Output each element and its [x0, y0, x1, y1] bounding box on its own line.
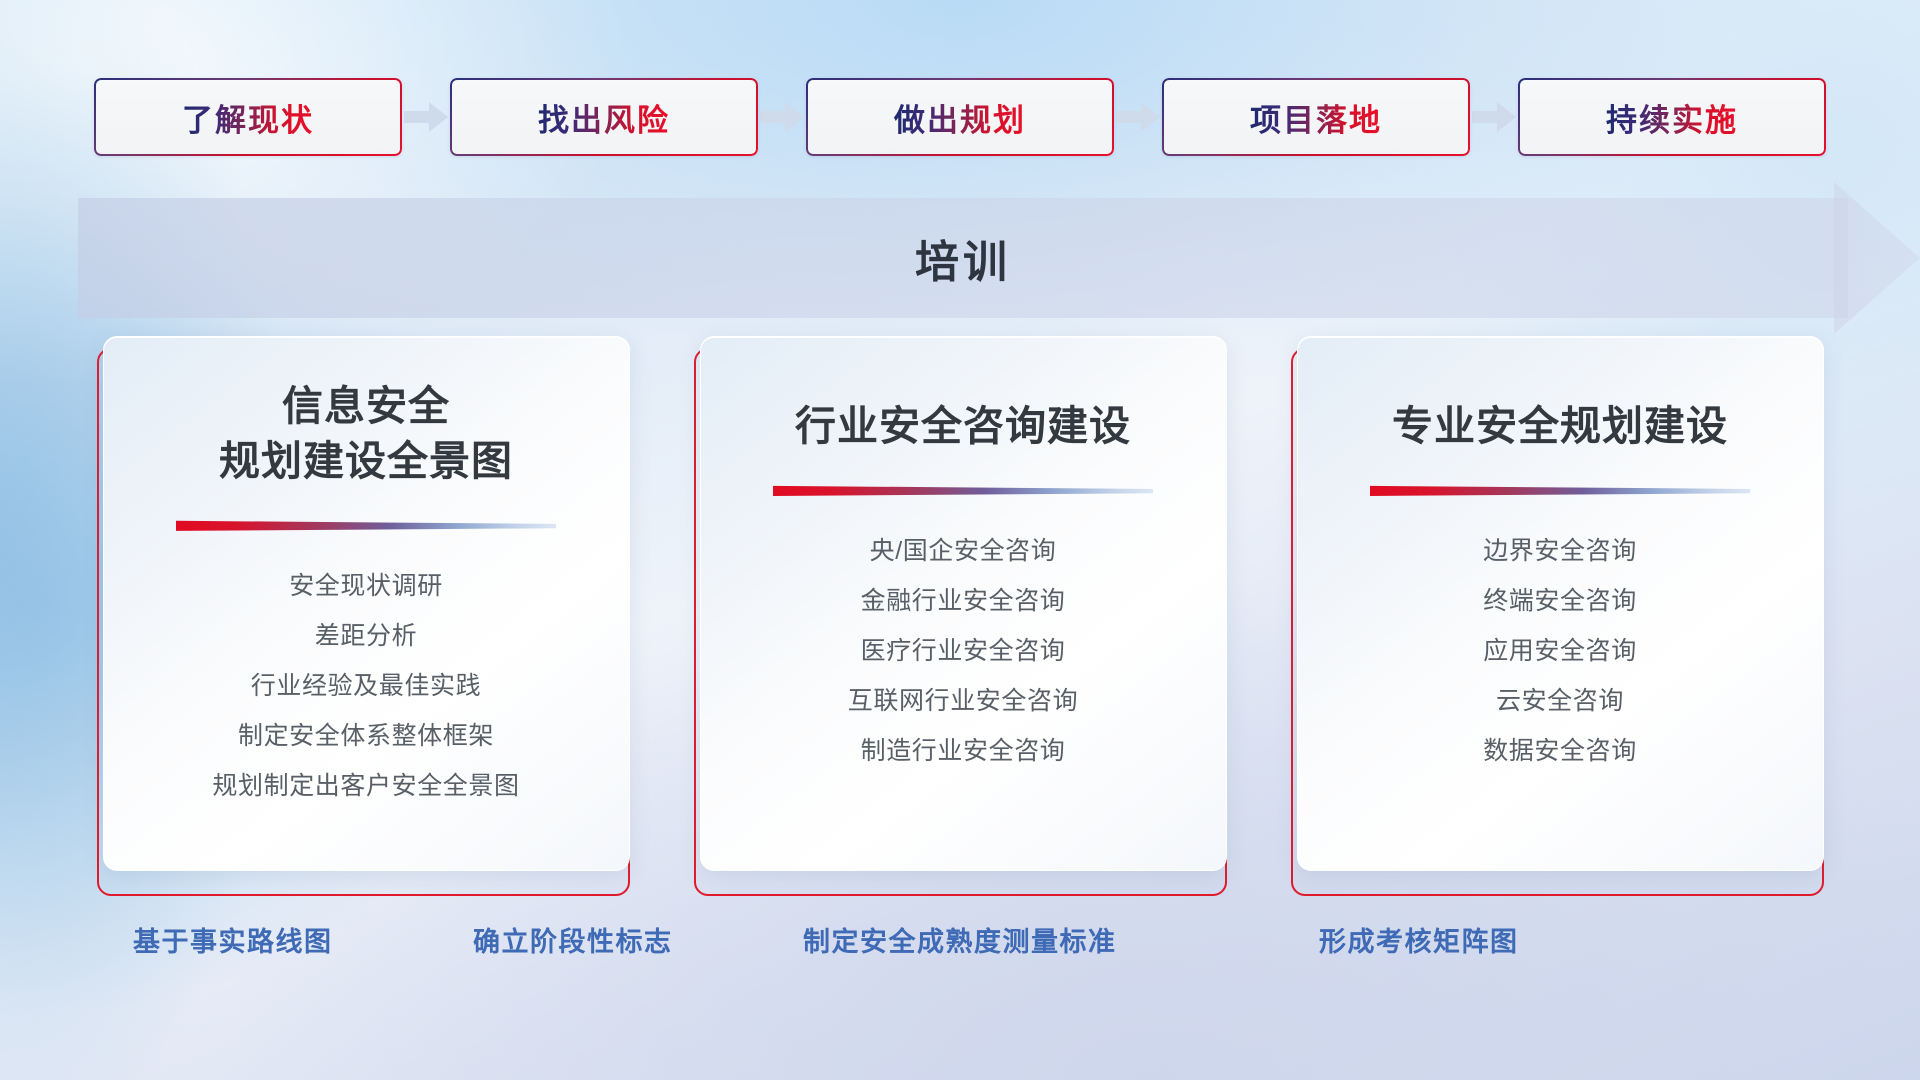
- step-item-5[interactable]: 持续实施: [1518, 78, 1826, 156]
- list-item: 终端安全咨询: [1483, 576, 1637, 626]
- list-item: 差距分析: [315, 611, 417, 661]
- bottom-label-2: 确立阶段性标志: [473, 920, 673, 959]
- card-2[interactable]: 行业安全咨询建设 央/国企安全咨询 金融行业安全咨询 医疗行业安全咨询 互联网行…: [694, 336, 1227, 896]
- card-title: 信息安全 规划建设全景图: [219, 379, 513, 489]
- banner-label: 培训: [78, 198, 1848, 318]
- card-title: 专业安全规划建设: [1392, 399, 1728, 454]
- step-label: 了解现状: [182, 95, 314, 140]
- card-surface: 行业安全咨询建设 央/国企安全咨询 金融行业安全咨询 医疗行业安全咨询 互联网行…: [700, 336, 1227, 871]
- step-label: 持续实施: [1606, 95, 1738, 140]
- card-surface: 专业安全规划建设 边界安全咨询 终端安全咨询 应用安全咨询 云安全咨询 数据安全…: [1297, 336, 1824, 871]
- step-flow: 了解现状 找出风险 做出规划 项目落地: [0, 78, 1920, 156]
- list-item: 云安全咨询: [1496, 676, 1624, 726]
- card-title: 行业安全咨询建设: [795, 399, 1131, 454]
- list-item: 行业经验及最佳实践: [251, 661, 481, 711]
- step-item-3[interactable]: 做出规划: [806, 78, 1114, 156]
- card-item-list: 央/国企安全咨询 金融行业安全咨询 医疗行业安全咨询 互联网行业安全咨询 制造行…: [848, 526, 1078, 776]
- list-item: 数据安全咨询: [1483, 726, 1637, 776]
- step-label: 找出风险: [538, 95, 670, 140]
- list-item: 医疗行业安全咨询: [861, 626, 1066, 676]
- list-item: 金融行业安全咨询: [861, 576, 1066, 626]
- step-arrow-icon-1: [402, 78, 450, 156]
- step-item-2[interactable]: 找出风险: [450, 78, 758, 156]
- card-item-list: 边界安全咨询 终端安全咨询 应用安全咨询 云安全咨询 数据安全咨询: [1483, 526, 1637, 776]
- list-item: 安全现状调研: [289, 561, 443, 611]
- list-item: 央/国企安全咨询: [870, 526, 1057, 576]
- bottom-label-row: 基于事实路线图 确立阶段性标志 制定安全成熟度测量标准 形成考核矩阵图: [0, 920, 1920, 980]
- list-item: 制造行业安全咨询: [861, 726, 1066, 776]
- list-item: 规划制定出客户安全全景图: [212, 761, 519, 811]
- list-item: 制定安全体系整体框架: [238, 711, 494, 761]
- card-row: 信息安全 规划建设全景图 安全现状调研 差距分析 行业经验及最佳实践 制定安全体…: [0, 336, 1920, 896]
- step-label: 项目落地: [1250, 95, 1382, 140]
- step-item-1[interactable]: 了解现状: [94, 78, 402, 156]
- bottom-label-1: 基于事实路线图: [133, 920, 333, 959]
- card-item-list: 安全现状调研 差距分析 行业经验及最佳实践 制定安全体系整体框架 规划制定出客户…: [212, 561, 519, 811]
- slide-canvas: 培训 了解现状 找出风险 做出规划 项目落地: [0, 0, 1920, 1080]
- step-arrow-icon-3: [1114, 78, 1162, 156]
- list-item: 互联网行业安全咨询: [848, 676, 1078, 726]
- step-item-4[interactable]: 项目落地: [1162, 78, 1470, 156]
- card-divider: [1370, 484, 1750, 496]
- card-3[interactable]: 专业安全规划建设 边界安全咨询 终端安全咨询 应用安全咨询 云安全咨询 数据安全…: [1291, 336, 1824, 896]
- training-banner: 培训: [78, 198, 1920, 318]
- card-divider: [176, 519, 556, 531]
- list-item: 边界安全咨询: [1483, 526, 1637, 576]
- step-arrow-icon-4: [1470, 78, 1518, 156]
- card-surface: 信息安全 规划建设全景图 安全现状调研 差距分析 行业经验及最佳实践 制定安全体…: [103, 336, 630, 871]
- card-1[interactable]: 信息安全 规划建设全景图 安全现状调研 差距分析 行业经验及最佳实践 制定安全体…: [97, 336, 630, 896]
- list-item: 应用安全咨询: [1483, 626, 1637, 676]
- card-divider: [773, 484, 1153, 496]
- bottom-label-4: 形成考核矩阵图: [1319, 920, 1519, 959]
- step-arrow-icon-2: [758, 78, 806, 156]
- step-label: 做出规划: [894, 95, 1026, 140]
- bottom-label-3: 制定安全成熟度测量标准: [803, 920, 1117, 959]
